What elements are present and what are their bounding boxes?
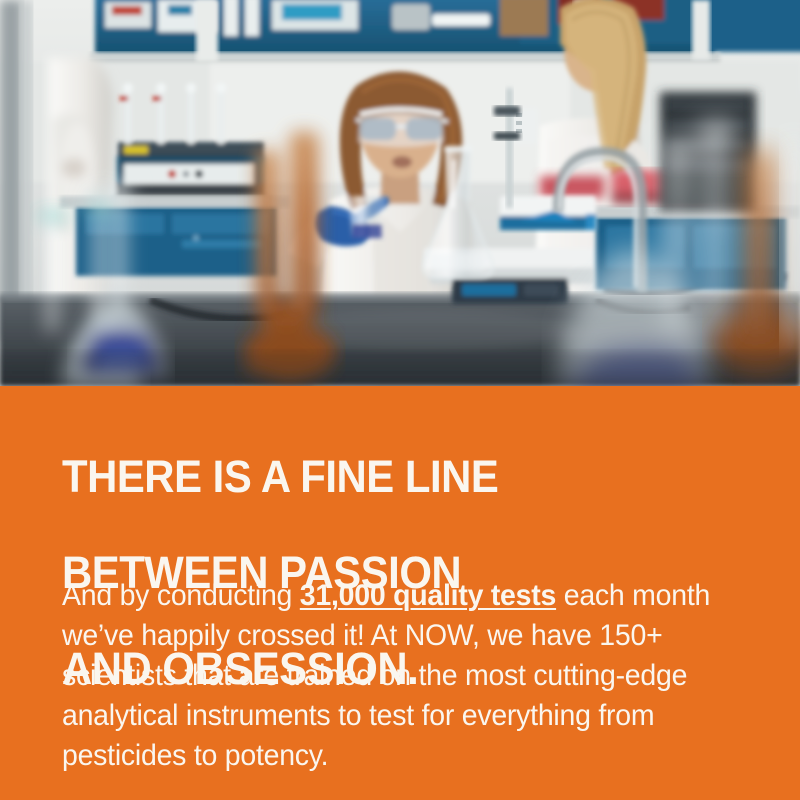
lab-scene-illustration: 500 [0,0,800,386]
headline-line-1: THERE IS A FINE LINE [62,453,713,501]
body-segment-1: And by conducting [62,579,300,612]
poster-root: 500 [0,0,800,800]
quality-tests-highlight: 31,000 quality tests [300,579,556,612]
body-copy: And by conducting 31,000 quality tests e… [62,576,718,776]
laboratory-photo: 500 [0,0,800,386]
